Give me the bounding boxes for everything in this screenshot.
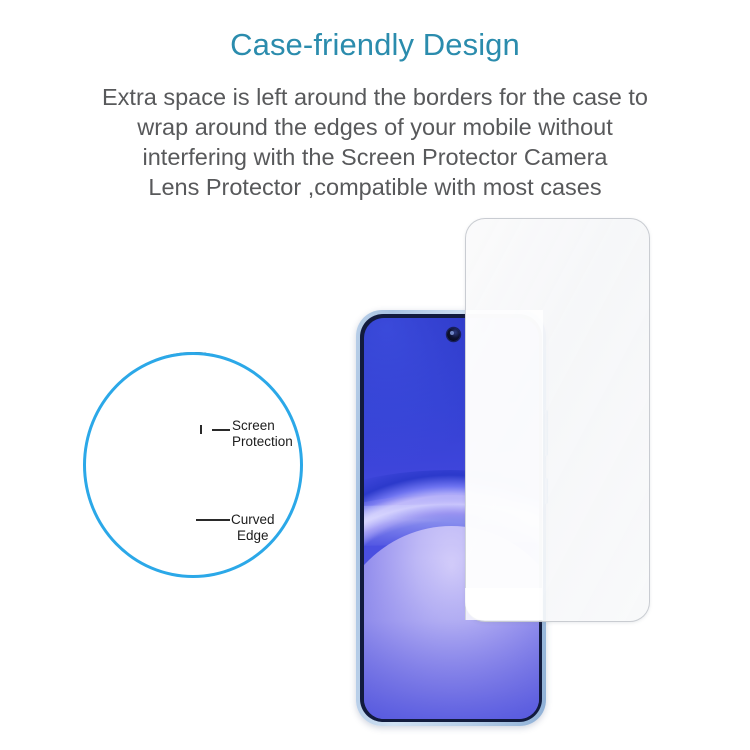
description-line-1: Extra space is left around the borders f…: [18, 82, 732, 112]
label-curved-edge-line-2: Edge: [231, 528, 275, 544]
leader-line-curved-edge: [196, 519, 230, 521]
page-title: Case-friendly Design: [0, 26, 750, 64]
leader-line-screen-protection: [212, 429, 230, 431]
product-marketing-image: Case-friendly Design Extra space is left…: [0, 0, 750, 750]
magnifier-ring: [83, 352, 303, 578]
screen-protector-sheet: [465, 218, 650, 622]
label-curved-edge: Curved Edge: [231, 512, 275, 543]
label-screen-protection-line-1: Screen: [232, 418, 293, 434]
edge-cross-section-callout: [83, 352, 303, 578]
description-paragraph: Extra space is left around the borders f…: [18, 82, 732, 202]
camera-lens-highlight: [450, 331, 454, 335]
label-curved-edge-line-1: Curved: [231, 512, 275, 528]
leader-tick-screen-protection: [200, 425, 202, 434]
label-screen-protection-line-2: Protection: [232, 434, 293, 450]
front-camera-icon: [447, 328, 460, 341]
description-line-2: wrap around the edges of your mobile wit…: [18, 112, 732, 142]
label-screen-protection: Screen Protection: [232, 418, 293, 449]
description-line-3: interfering with the Screen Protector Ca…: [18, 142, 732, 172]
description-line-4: Lens Protector ,compatible with most cas…: [18, 172, 732, 202]
